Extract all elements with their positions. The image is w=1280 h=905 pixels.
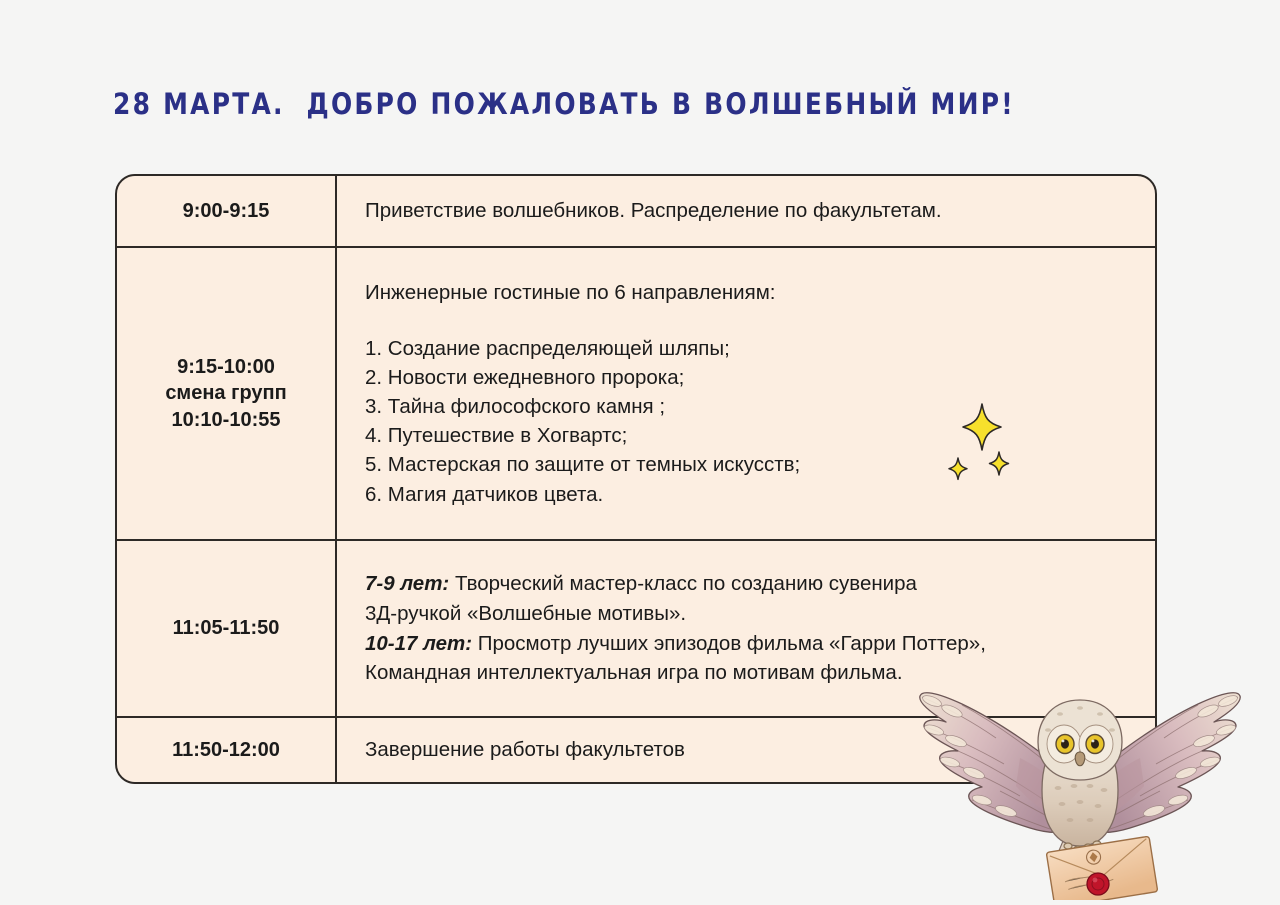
age-group-line: 7-9 лет: Творческий мастер-класс по созд… — [365, 569, 1133, 599]
list-item: 4. Путешествие в Хогвартс; — [365, 421, 1133, 450]
table-row: 11:05-11:50 7-9 лет: Творческий мастер-к… — [117, 541, 1155, 718]
owl-tail — [1050, 834, 1110, 875]
age-group-label: 7-9 лет: — [365, 572, 449, 595]
description-cell: Инженерные гостиные по 6 направлениям: 1… — [337, 248, 1155, 539]
page-title: 28 МАРТА. ДОБРО ПОЖАЛОВАТЬ В ВОЛШЕБНЫЙ М… — [113, 89, 1015, 121]
time-cell: 9:15-10:00 смена групп 10:10-10:55 — [117, 248, 337, 539]
list-item: 1. Создание распределяющей шляпы; — [365, 334, 1133, 363]
table-row: 11:50-12:00 Завершение работы факультето… — [117, 718, 1155, 782]
age-group-line: 10-17 лет: Просмотр лучших эпизодов филь… — [365, 629, 1133, 659]
description-cell: 7-9 лет: Творческий мастер-класс по созд… — [337, 541, 1155, 716]
owl-talons — [1064, 841, 1101, 852]
age-group-text: Командная интеллектуальная игра по мотив… — [365, 661, 903, 684]
time-line: смена групп — [165, 380, 286, 407]
time-cell: 11:50-12:00 — [117, 718, 337, 782]
description-line: Завершение работы факультетов — [365, 735, 1133, 765]
age-group-text: Творческий мастер-класс по созданию суве… — [449, 572, 917, 595]
description-line: Приветствие волшебников. Распределение п… — [365, 196, 1133, 226]
time-line: 10:10-10:55 — [172, 407, 281, 434]
time-line: 9:00-9:15 — [183, 198, 270, 225]
time-cell: 9:00-9:15 — [117, 176, 337, 246]
description-cell: Завершение работы факультетов — [337, 718, 1155, 782]
list-intro: Инженерные гостиные по 6 направлениям: — [365, 278, 1133, 308]
schedule-table: 9:00-9:15 Приветствие волшебников. Распр… — [115, 174, 1157, 784]
age-group-line: 3Д-ручкой «Волшебные мотивы». — [365, 599, 1133, 629]
age-group-line: Командная интеллектуальная игра по мотив… — [365, 658, 1133, 688]
time-line: 11:05-11:50 — [173, 615, 280, 642]
table-row: 9:00-9:15 Приветствие волшебников. Распр… — [117, 176, 1155, 248]
list-item: 6. Магия датчиков цвета. — [365, 480, 1133, 509]
table-row: 9:15-10:00 смена групп 10:10-10:55 Инжен… — [117, 248, 1155, 541]
time-line: 9:15-10:00 — [177, 354, 275, 381]
time-cell: 11:05-11:50 — [117, 541, 337, 716]
age-group-label: 10-17 лет: — [365, 632, 472, 655]
list-item: 2. Новости ежедневного пророка; — [365, 363, 1133, 392]
description-cell: Приветствие волшебников. Распределение п… — [337, 176, 1155, 246]
list-item: 3. Тайна философского камня ; — [365, 392, 1133, 421]
list-item: 5. Мастерская по защите от темных искусс… — [365, 450, 1133, 479]
age-group-text: 3Д-ручкой «Волшебные мотивы». — [365, 602, 686, 625]
poster-canvas: 28 МАРТА. ДОБРО ПОЖАЛОВАТЬ В ВОЛШЕБНЫЙ М… — [0, 0, 1280, 905]
age-group-text: Просмотр лучших эпизодов фильма «Гарри П… — [472, 632, 986, 655]
owl-letter — [1046, 836, 1157, 900]
time-line: 11:50-12:00 — [172, 737, 280, 764]
